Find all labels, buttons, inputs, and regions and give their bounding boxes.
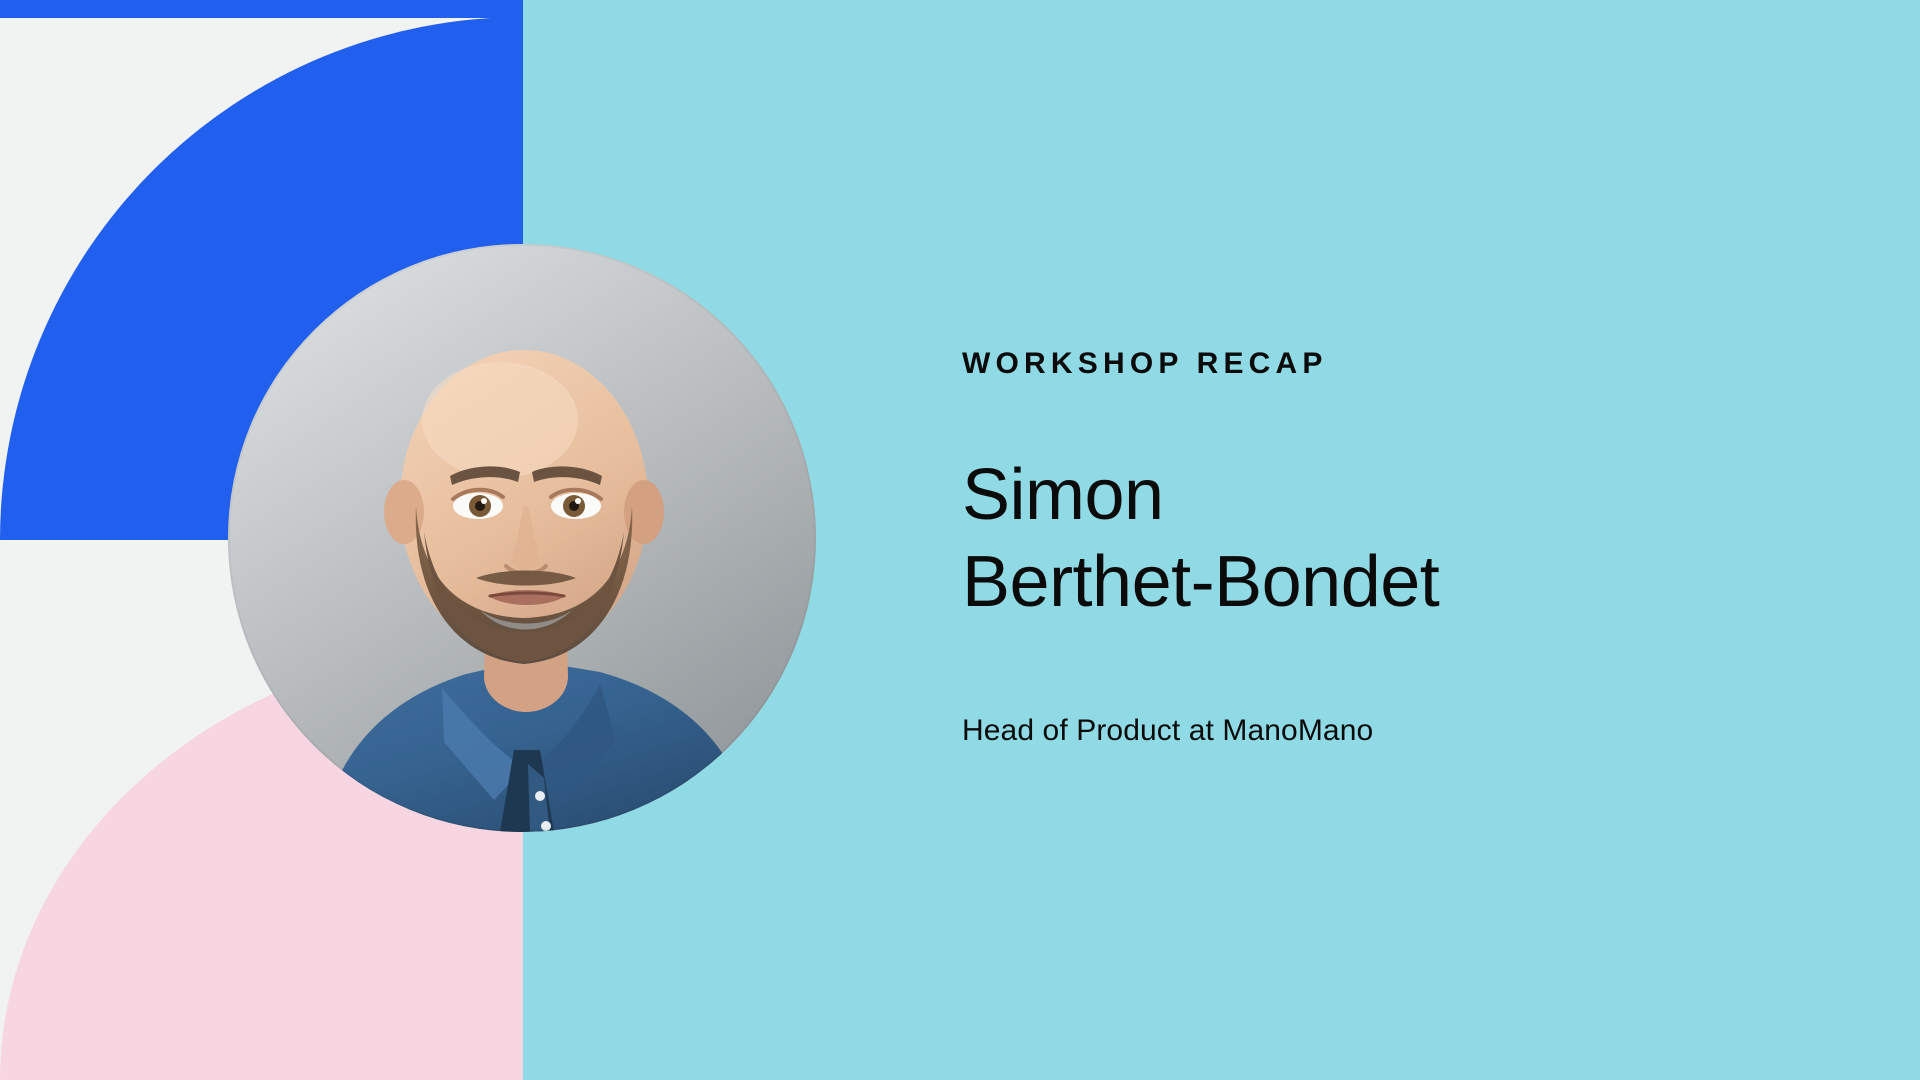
speaker-card-slide: WORKSHOP RECAP Simon Berthet-Bondet Head…: [0, 0, 1920, 1080]
blue-quarter-circle-top-fill: [0, 0, 523, 18]
avatar: [228, 244, 816, 832]
speaker-name: Simon Berthet-Bondet: [962, 452, 1439, 626]
speaker-role: Head of Product at ManoMano: [962, 713, 1373, 749]
eyebrow-label: WORKSHOP RECAP: [962, 349, 1328, 379]
speaker-portrait-icon: [228, 244, 816, 832]
speaker-text-block: WORKSHOP RECAP Simon Berthet-Bondet Head…: [962, 0, 1862, 1080]
